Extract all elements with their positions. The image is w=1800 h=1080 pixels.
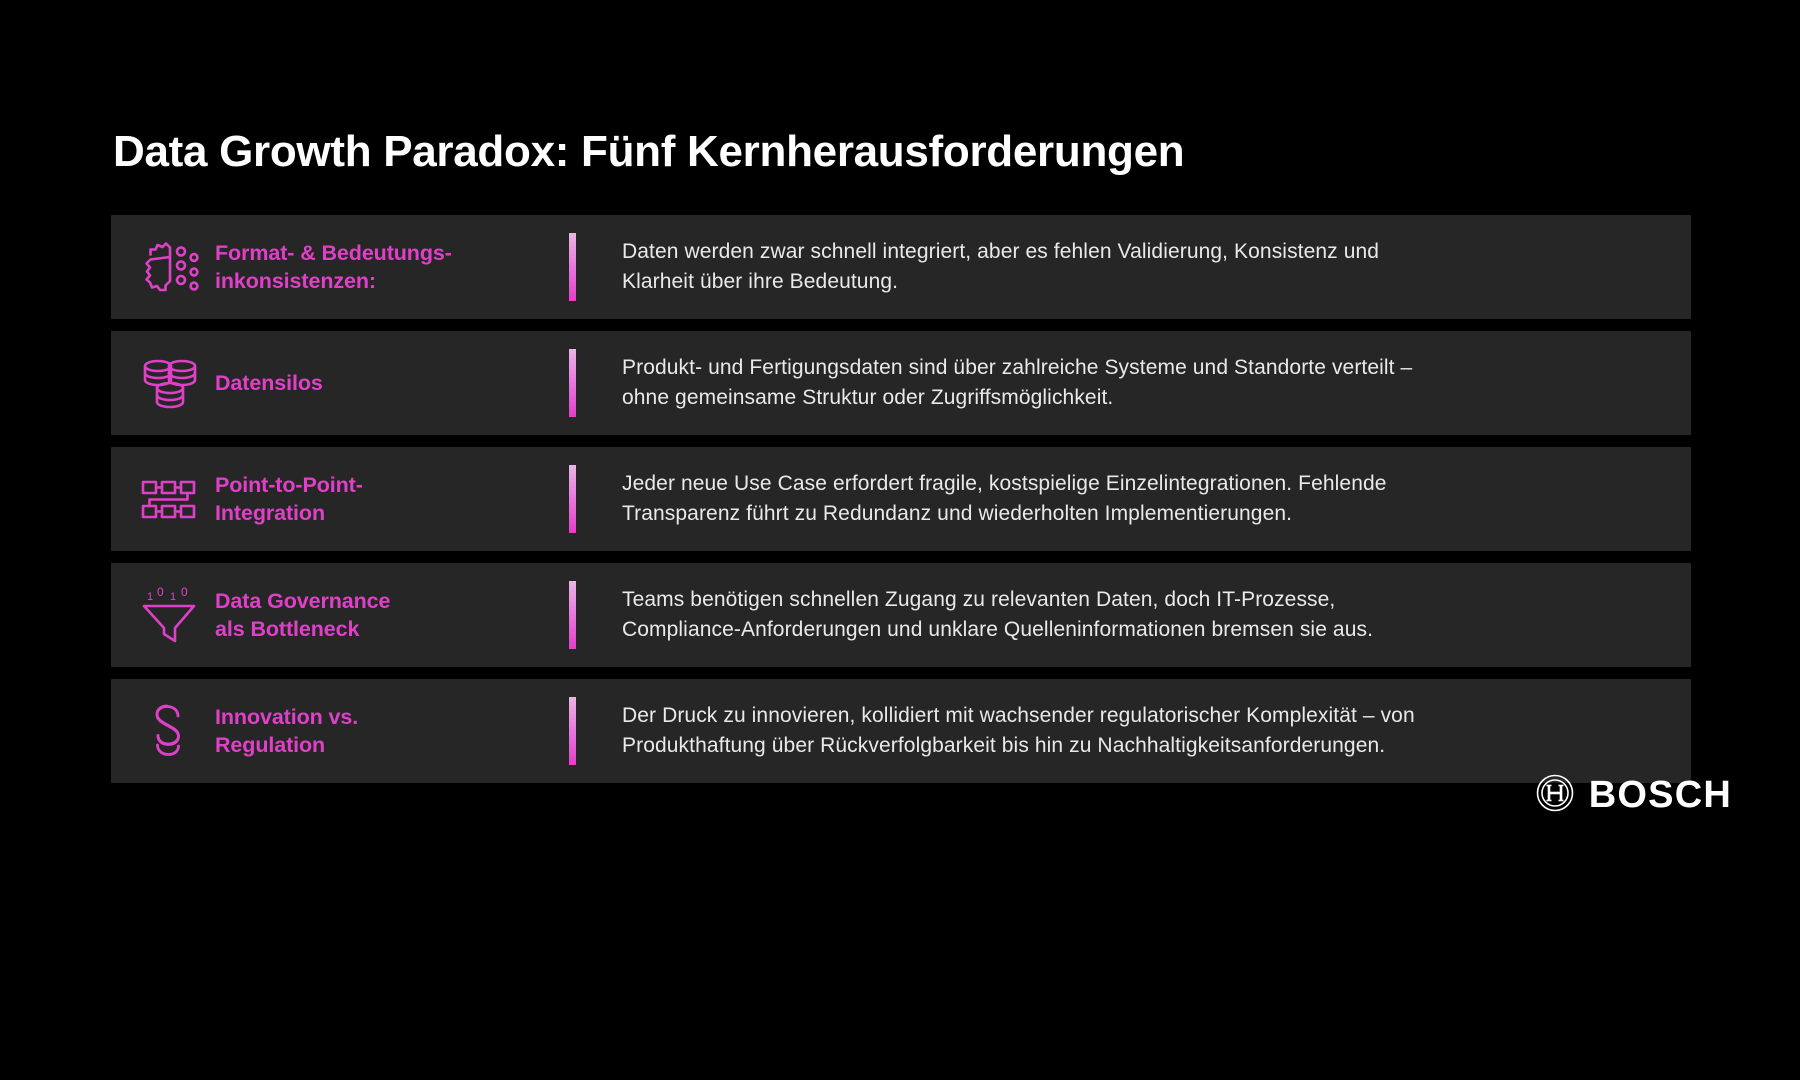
- desc-line-2: Compliance-Anforderungen und unklare Que…: [622, 615, 1661, 645]
- stacked-database-silos-icon: [111, 352, 211, 414]
- desc-line-1: Jeder neue Use Case erfordert fragile, k…: [622, 472, 1387, 495]
- slide-root: Data Growth Paradox: Fünf Kernherausford…: [0, 0, 1800, 1080]
- label-line-2: als Bottleneck: [215, 615, 569, 643]
- gear-with-data-dots-icon: [111, 236, 211, 298]
- label-line-1: Format- & Bedeutungs-: [215, 241, 452, 265]
- svg-text:0: 0: [181, 585, 188, 599]
- list-item-description: Produkt- und Fertigungsdaten sind über z…: [622, 353, 1691, 413]
- list-item-label: Format- & Bedeutungs- inkonsistenzen:: [211, 239, 569, 296]
- section-sign-icon: [111, 700, 211, 762]
- list-item-description: Daten werden zwar schnell integriert, ab…: [622, 237, 1691, 297]
- list-item-label: Point-to-Point- Integration: [211, 471, 569, 528]
- list-item[interactable]: 1 0 1 0 Data Governance als Bottleneck T…: [111, 563, 1691, 667]
- binary-funnel-icon: 1 0 1 0: [111, 584, 211, 646]
- label-line-1: Innovation vs.: [215, 705, 358, 729]
- challenge-list: Format- & Bedeutungs- inkonsistenzen: Da…: [111, 215, 1691, 795]
- desc-line-1: Produkt- und Fertigungsdaten sind über z…: [622, 356, 1412, 379]
- list-item-description: Jeder neue Use Case erfordert fragile, k…: [622, 469, 1691, 529]
- accent-divider: [569, 349, 576, 417]
- accent-divider: [569, 697, 576, 765]
- list-item-label: Innovation vs. Regulation: [211, 703, 569, 760]
- svg-text:1: 1: [147, 591, 153, 603]
- desc-line-2: ohne gemeinsame Struktur oder Zugriffsmö…: [622, 383, 1661, 413]
- accent-divider: [569, 465, 576, 533]
- label-line-2: inkonsistenzen:: [215, 267, 569, 295]
- label-line-1: Datensilos: [215, 371, 323, 395]
- desc-line-2: Transparenz führt zu Redundanz und wiede…: [622, 499, 1661, 529]
- list-item[interactable]: Innovation vs. Regulation Der Druck zu i…: [111, 679, 1691, 783]
- list-item-label: Data Governance als Bottleneck: [211, 587, 569, 644]
- label-line-1: Point-to-Point-: [215, 473, 363, 497]
- list-item[interactable]: Datensilos Produkt- und Fertigungsdaten …: [111, 331, 1691, 435]
- accent-divider: [569, 233, 576, 301]
- desc-line-2: Klarheit über ihre Bedeutung.: [622, 267, 1661, 297]
- label-line-2: Integration: [215, 499, 569, 527]
- svg-text:1: 1: [170, 591, 176, 603]
- list-item-description: Teams benötigen schnellen Zugang zu rele…: [622, 585, 1691, 645]
- list-item-description: Der Druck zu innovieren, kollidiert mit …: [622, 701, 1691, 761]
- bosch-wordmark: BOSCH: [1589, 774, 1732, 817]
- page-title: Data Growth Paradox: Fünf Kernherausford…: [113, 128, 1613, 176]
- desc-line-1: Daten werden zwar schnell integriert, ab…: [622, 240, 1379, 263]
- network-nodes-icon: [111, 468, 211, 530]
- label-line-1: Data Governance: [215, 589, 390, 613]
- svg-text:0: 0: [157, 585, 164, 599]
- list-item[interactable]: Point-to-Point- Integration Jeder neue U…: [111, 447, 1691, 551]
- desc-line-1: Teams benötigen schnellen Zugang zu rele…: [622, 588, 1335, 611]
- list-item[interactable]: Format- & Bedeutungs- inkonsistenzen: Da…: [111, 215, 1691, 319]
- label-line-2: Regulation: [215, 731, 569, 759]
- desc-line-1: Der Druck zu innovieren, kollidiert mit …: [622, 704, 1415, 727]
- bosch-armature-logo-icon: [1535, 773, 1575, 818]
- accent-divider: [569, 581, 576, 649]
- desc-line-2: Produkthaftung über Rückverfolgbarkeit b…: [622, 731, 1661, 761]
- brand-logo: BOSCH: [1535, 773, 1732, 818]
- list-item-label: Datensilos: [211, 369, 569, 397]
